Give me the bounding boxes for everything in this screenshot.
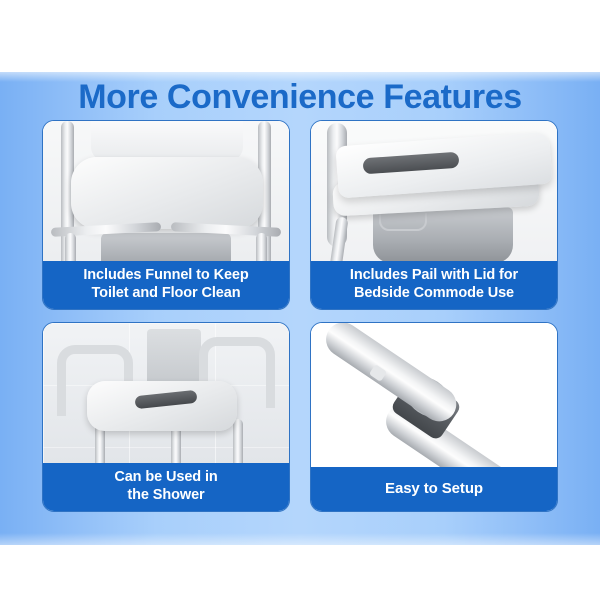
feature-image-funnel	[43, 121, 289, 261]
leg-right	[233, 419, 243, 463]
pail-handle	[379, 213, 427, 231]
feature-caption-setup: Easy to Setup	[311, 467, 557, 512]
feature-image-shower	[43, 323, 289, 463]
leg-right	[256, 233, 267, 261]
feature-card-setup[interactable]: Easy to Setup	[310, 322, 558, 512]
page-title: More Convenience Features	[0, 78, 600, 116]
feature-caption-funnel: Includes Funnel to Keep Toilet and Floor…	[43, 261, 289, 309]
feature-card-grid: Includes Funnel to Keep Toilet and Floor…	[42, 120, 558, 512]
feature-image-setup	[311, 323, 557, 467]
leg-left	[65, 233, 76, 261]
promo-banner: More Convenience Features Includes Funne…	[0, 0, 600, 600]
feature-card-pail[interactable]: Includes Pail with Lid for Bedside Commo…	[310, 120, 558, 310]
bucket-shape	[101, 233, 231, 261]
feature-caption-pail: Includes Pail with Lid for Bedside Commo…	[311, 261, 557, 309]
feature-image-pail	[311, 121, 557, 261]
seat-pad	[71, 157, 263, 229]
shower-fixture	[147, 329, 201, 385]
feature-card-shower[interactable]: Can be Used in the Shower	[42, 322, 290, 512]
feature-card-funnel[interactable]: Includes Funnel to Keep Toilet and Floor…	[42, 120, 290, 310]
feature-caption-shower: Can be Used in the Shower	[43, 463, 289, 511]
backrest-shape	[91, 121, 243, 161]
